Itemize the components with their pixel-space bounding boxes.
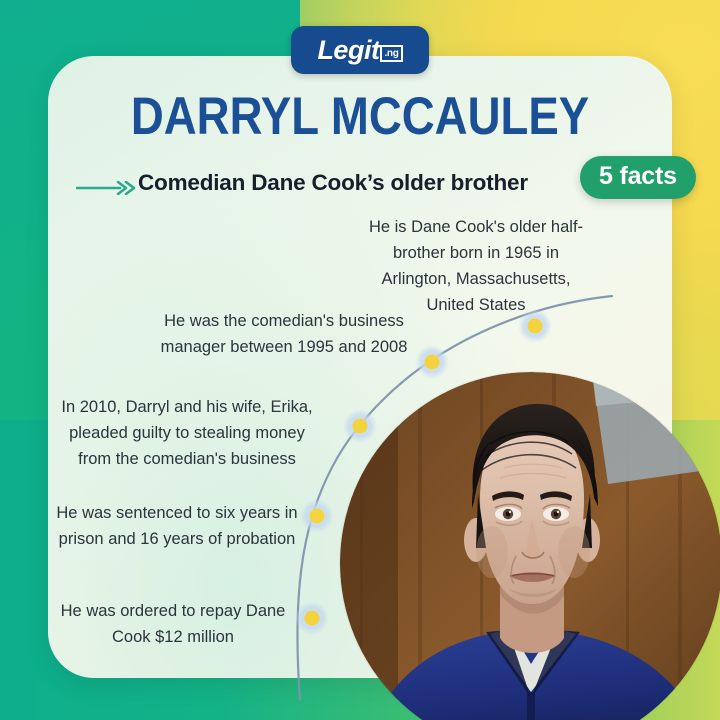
subtitle-row: Comedian Dane Cook’s older brother: [76, 167, 546, 199]
fact-item-3: In 2010, Darryl and his wife, Erika, ple…: [52, 394, 322, 472]
fact-item-4: He was sentenced to six years in prison …: [46, 500, 308, 552]
arrow-right-icon: [76, 181, 138, 195]
facts-count-badge: 5 facts: [580, 156, 696, 199]
fact-item-1: He is Dane Cook's older half-brother bor…: [360, 214, 592, 318]
page-title: DARRYL MCCAULEY: [50, 90, 669, 143]
fact-item-5: He was ordered to repay Dane Cook $12 mi…: [42, 598, 304, 650]
infographic-root: Legit .ng DARRYL MCCAULEY Comedian Dane …: [0, 0, 720, 720]
logo-wordmark: Legit: [317, 37, 379, 64]
page-subtitle: Comedian Dane Cook’s older brother: [138, 167, 546, 199]
legit-ng-logo[interactable]: Legit .ng: [291, 26, 429, 74]
fact-item-2: He was the comedian's business manager b…: [150, 308, 418, 360]
logo-tld-badge: .ng: [380, 45, 402, 62]
